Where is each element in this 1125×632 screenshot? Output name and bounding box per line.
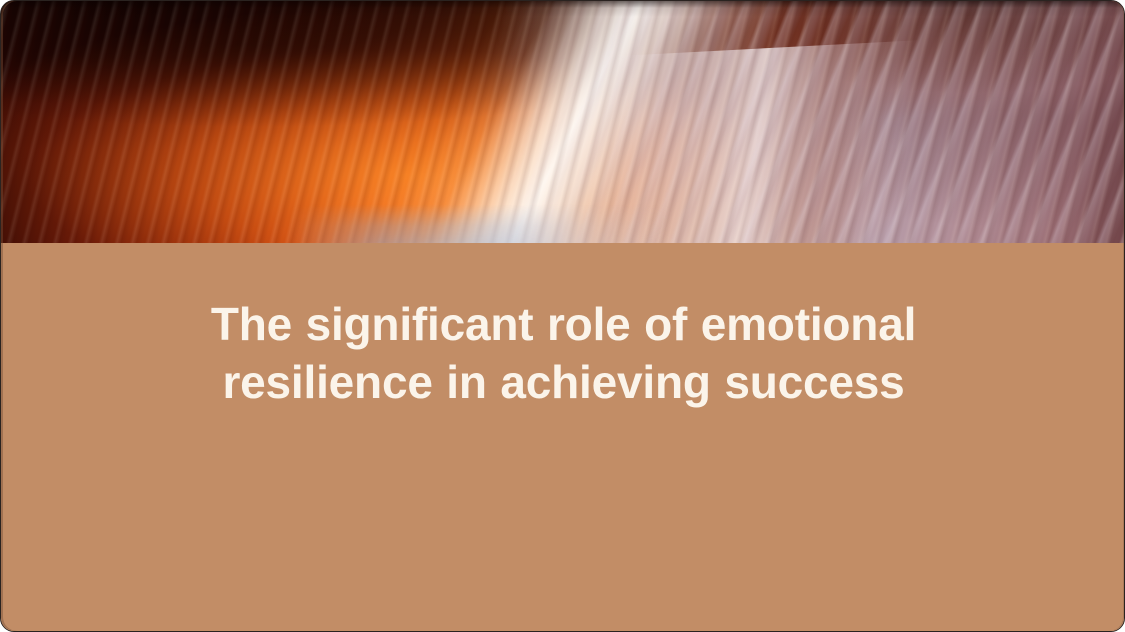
slide-title-line-2: resilience in achieving success xyxy=(222,356,904,408)
slide-title: The significant role of emotional resili… xyxy=(154,295,974,411)
canyon-vignette-layer xyxy=(1,1,1125,243)
title-panel: The significant role of emotional resili… xyxy=(1,243,1125,632)
presentation-slide: The significant role of emotional resili… xyxy=(0,0,1125,632)
slide-title-line-1: The significant role of emotional xyxy=(211,298,916,350)
hero-canyon-image xyxy=(1,1,1125,243)
